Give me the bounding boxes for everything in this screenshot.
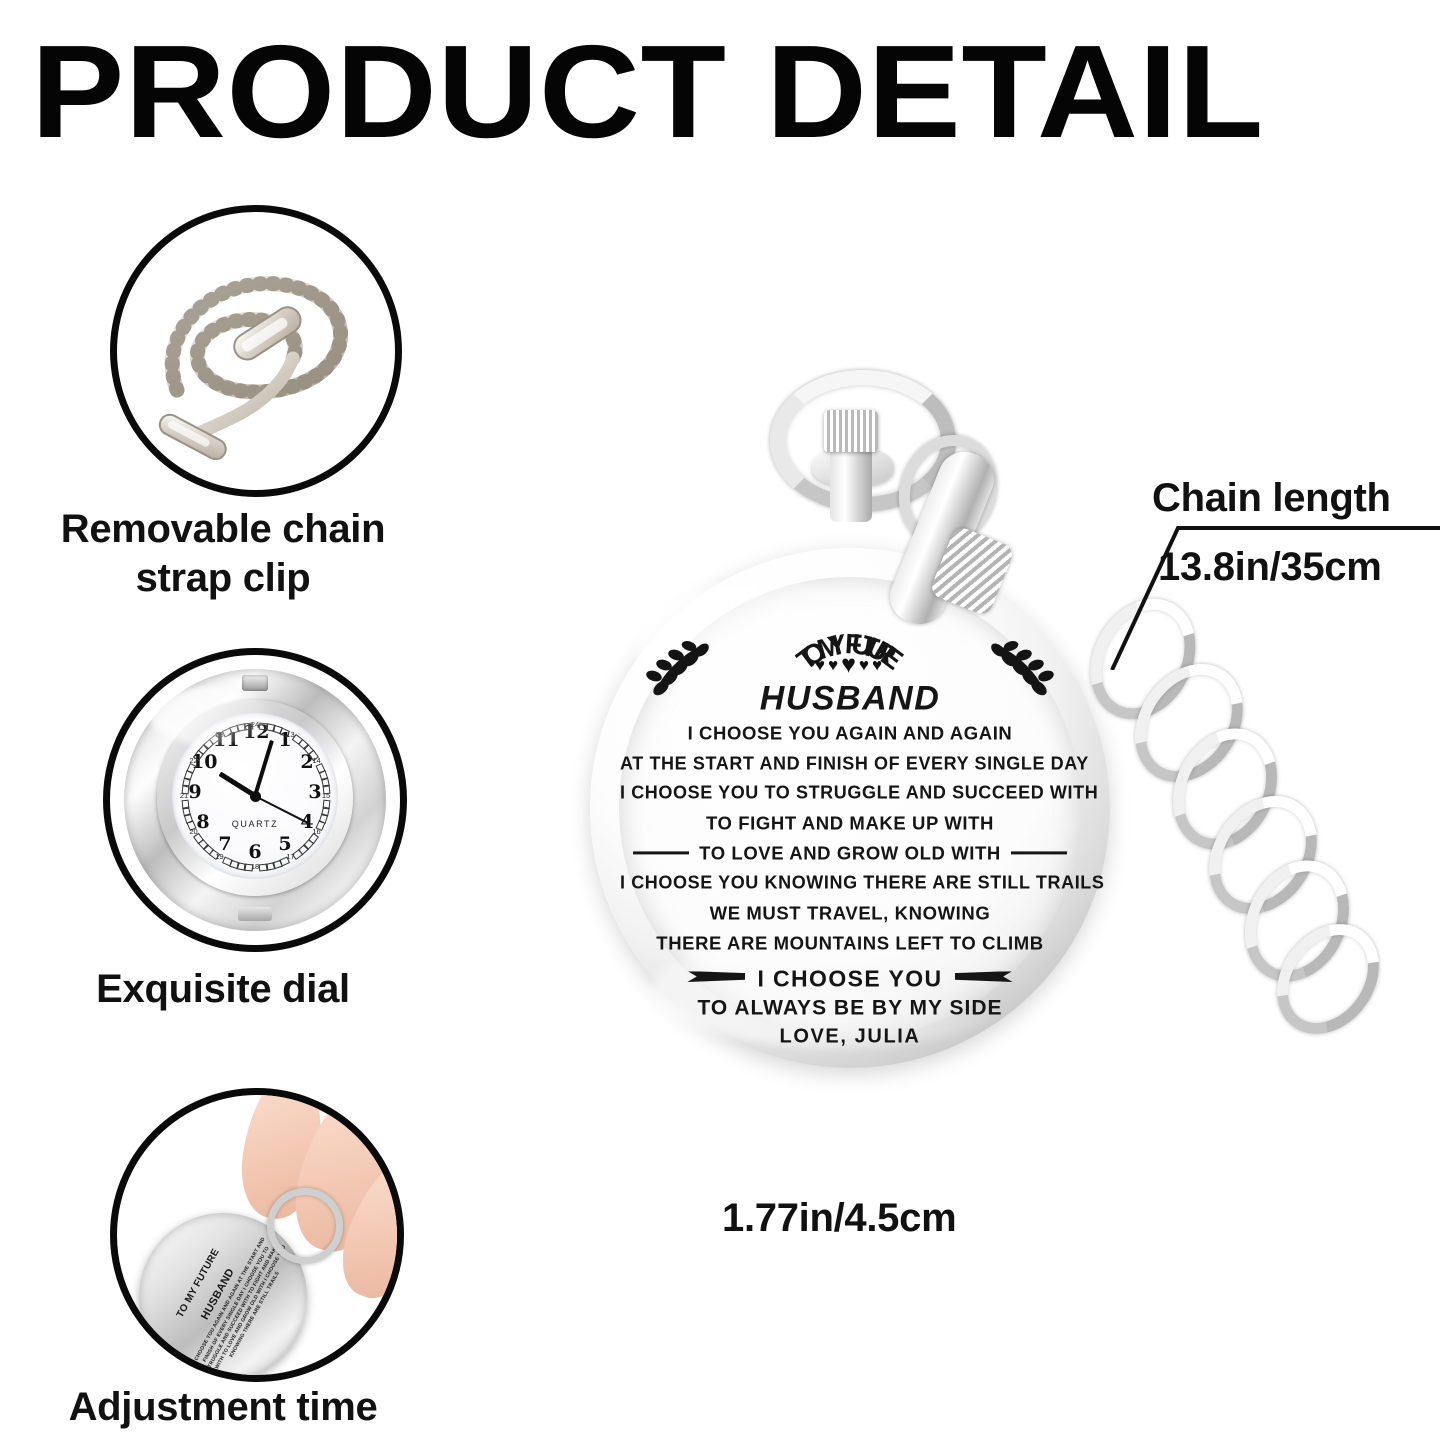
banner-text: I CHOOSE YOU [757,965,942,991]
dial-minute-tick [244,722,254,730]
chain-illustration [117,212,395,490]
feature-label-line-1: Adjustment time [0,1383,473,1432]
product-detail-page: PRODUCT DETAIL [0,0,1445,1445]
hand-pin [250,791,261,802]
feature-label-removable-chain-strap-clip: Removable chain strap clip [0,505,473,603]
chain-length-leader-line [1090,520,1440,670]
dial-brand-text: QUARTZ [232,819,278,829]
photo-adjustment-time: TO MY FUTURE HUSBAND I CHOOSE YOU AGAIN … [110,1088,404,1382]
engraving-signature: LOVE, JULIA [620,1025,1080,1048]
divider-dash-right [1011,851,1067,854]
coiled-chain-svg [117,212,395,490]
dial-case: QUARTZ 121234567891011241314151617181920… [124,669,386,931]
dial-hour-numeral: 6 [243,843,267,862]
dial-hour-numeral: 12 [243,723,267,742]
chain-spring-clip [900,430,1080,660]
engraving-line: TO FIGHT AND MAKE UP WITH [620,808,1080,838]
dial-bezel: QUARTZ 121234567891011241314151617181920… [157,700,353,896]
callout-chain-length-title: Chain length [1152,476,1391,521]
bail-neck [830,448,872,522]
dial-minute-tick [222,727,233,737]
dial-hour-numeral: 5 [273,835,297,854]
dial-minute-tick [236,723,246,732]
dial-24h-numeral: 23 [212,730,228,739]
engraving-banner-line: I CHOOSE YOU [620,965,1080,992]
dial-minute-tick [259,864,269,872]
engraving-line: AT THE START AND FINISH OF EVERY SINGLE … [620,749,1080,779]
photo-removable-chain-strap-clip [110,205,402,497]
dial-crown-bottom [238,907,272,921]
feature-label-line-1: Exquisite dial [0,965,473,1014]
mini-watch-bail-ring [267,1188,343,1264]
engraving-recipient: HUSBAND [620,680,1080,719]
hand-holding-watch-illustration: TO MY FUTURE HUSBAND I CHOOSE YOU AGAIN … [117,1095,397,1375]
engraving-line: THERE ARE MOUNTAINS LEFT TO CLIMB [620,929,1080,959]
callout-diameter-value: 1.77in/4.5cm [722,1196,956,1241]
banner-arrow-left-icon [687,971,745,982]
watch-crown [824,410,878,452]
feature-label-adjustment-time: Adjustment time [0,1383,473,1432]
banner-arrow-right-icon [955,971,1013,982]
engraving-closing-line: TO ALWAYS BE BY MY SIDE [620,996,1080,1020]
page-title: PRODUCT DETAIL [31,26,1445,158]
feature-label-line-2: strap clip [0,554,473,603]
minute-hand [253,740,274,797]
dial-minute-tick [229,725,240,734]
dial-face: QUARTZ 121234567891011241314151617181920… [172,713,338,879]
dial-crown-top [242,675,268,691]
engraving-line: I CHOOSE YOU TO STRUGGLE AND SUCCEED WIT… [620,779,1080,809]
photo-exquisite-dial: QUARTZ 121234567891011241314151617181920… [103,648,407,952]
engraving-line: I CHOOSE YOU AGAIN AND AGAIN [620,719,1080,749]
dial-minute-tick [209,734,220,745]
divider-text: TO LOVE AND GROW OLD WITH [699,842,1001,863]
engraving-line: I CHOOSE YOU KNOWING THERE ARE STILL TRA… [620,869,1080,899]
feature-label-line-1: Removable chain [0,505,473,554]
dial-minute-tick [323,785,331,795]
dial-24h-numeral: 24 [247,720,263,729]
engraving-divider-line: TO LOVE AND GROW OLD WITH [620,838,1080,868]
feature-label-exquisite-dial: Exquisite dial [0,965,473,1014]
divider-dash-left [633,851,689,854]
dial-hour-numeral: 11 [213,731,237,750]
engraving-line: WE MUST TRAVEL, KNOWING [620,898,1080,928]
dial-minute-tick [181,800,189,810]
